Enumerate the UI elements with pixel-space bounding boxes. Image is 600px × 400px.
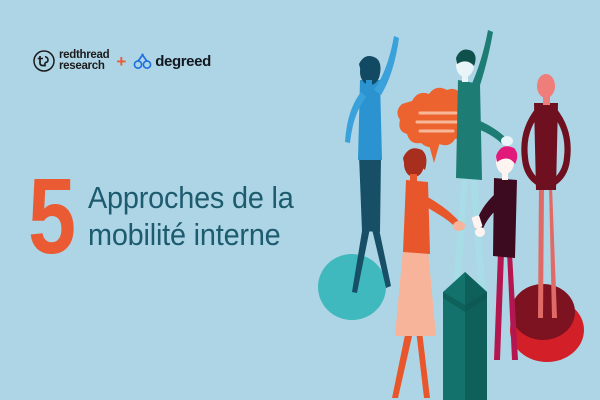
degreed-logo: degreed	[133, 53, 211, 70]
pedestal-circle-turquoise	[318, 254, 386, 320]
head	[537, 74, 555, 98]
people-on-pedestals-internal-mobility-illustration	[310, 0, 600, 400]
redthread-circle-monogram-icon	[33, 50, 55, 72]
figure-maroon-hands-on-hips	[521, 74, 570, 318]
headline-block: 5 Approches de la mobilité interne	[28, 172, 309, 261]
headline-line-1: Approches de la	[88, 180, 294, 217]
hand	[501, 136, 513, 146]
headline-line-2: mobilité interne	[88, 217, 294, 254]
hand	[453, 221, 465, 231]
logo-lockup: redthread research + d	[33, 50, 211, 72]
headline-number: 5	[28, 172, 73, 261]
hand	[475, 227, 485, 237]
degreed-wordmark: degreed	[155, 54, 211, 69]
plus-icon: +	[116, 53, 126, 70]
headline-text: Approches de la mobilité interne	[88, 180, 309, 253]
redthread-wordmark: redthread research	[59, 50, 109, 71]
degreed-double-loop-icon	[133, 53, 152, 70]
pedestal-column-teal	[443, 272, 487, 400]
redthread-word-line2: research	[59, 61, 109, 72]
redthread-research-logo: redthread research	[33, 50, 109, 72]
banner-graphic: redthread research + d	[0, 0, 600, 400]
